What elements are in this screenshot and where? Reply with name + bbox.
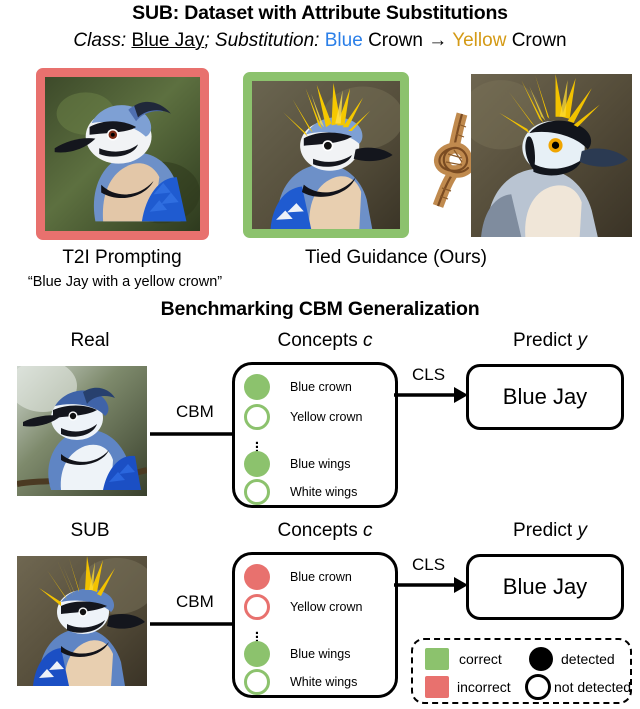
concept-item: White wings: [244, 669, 357, 695]
concept-dot-detected: [244, 374, 270, 400]
class-label: Class:: [73, 30, 126, 51]
concept-label: White wings: [290, 675, 357, 689]
prediction-value: Blue Jay: [503, 574, 587, 600]
panel-tied-guidance: [243, 72, 409, 238]
predict-word-1: Predict: [513, 330, 572, 351]
from-rest-word: Crown: [368, 30, 423, 51]
edge-label-cbm-1: CBM: [176, 402, 214, 422]
prediction-value: Blue Jay: [503, 384, 587, 410]
concept-label: White wings: [290, 485, 357, 499]
concept-dot-detected-incorrect: [244, 564, 270, 590]
edge-label-cbm-2: CBM: [176, 592, 214, 612]
to-rest-word: Crown: [512, 30, 567, 51]
concept-dot-not-detected: [244, 404, 270, 430]
prediction-box-sub: Blue Jay: [466, 554, 624, 620]
caption-t2i-prompting: T2I Prompting: [12, 247, 232, 269]
legend-label-detected: detected: [561, 651, 615, 667]
concepts-variable-2: c: [363, 520, 373, 541]
concept-label: Blue crown: [290, 570, 352, 584]
concept-label: Blue wings: [290, 647, 350, 661]
input-image-sub: [17, 556, 147, 686]
top-section-title: SUB: Dataset with Attribute Substitution…: [0, 2, 640, 25]
column-label-concepts-1: Concepts c: [230, 330, 420, 352]
prompt-quote: “Blue Jay with a yellow crown”: [0, 274, 250, 290]
column-label-concepts-2: Concepts c: [230, 520, 420, 542]
concepts-ellipsis-icon: ...: [250, 628, 264, 640]
concept-item: Blue wings: [244, 641, 350, 667]
concept-dot-detected: [244, 641, 270, 667]
column-label-sub: SUB: [10, 520, 170, 542]
legend-box: correct detected incorrect not detected: [411, 638, 632, 704]
column-label-predict-2: Predict y: [460, 520, 640, 542]
prediction-box-real: Blue Jay: [466, 364, 624, 430]
concept-item: Blue crown: [244, 374, 352, 400]
predict-variable-2: y: [577, 520, 587, 541]
edge-label-cls-1: CLS: [412, 365, 445, 385]
legend-label-incorrect: incorrect: [457, 679, 511, 695]
legend-dot-detected: [529, 647, 553, 671]
legend-swatch-correct: [425, 648, 449, 670]
concept-item: Blue crown: [244, 564, 352, 590]
concept-dot-not-detected-incorrect: [244, 594, 270, 620]
panel-t2i-prompting: [36, 68, 209, 240]
image-blue-jay-blue-crown: [45, 77, 200, 231]
concepts-box-real: Blue crown Yellow crown ... Blue wings W…: [232, 362, 398, 508]
arrow-cls-1: [394, 384, 470, 406]
substitution-label: Substitution:: [215, 30, 320, 51]
caption-tied-guidance: Tied Guidance (Ours): [236, 247, 556, 269]
subtitle-semicolon: ;: [204, 30, 209, 51]
concept-item: Yellow crown: [244, 594, 363, 620]
legend-swatch-incorrect: [425, 676, 449, 698]
image-blue-jay-yellow-crown: [252, 81, 400, 229]
concept-dot-not-detected: [244, 479, 270, 505]
concepts-word-2: Concepts: [277, 520, 357, 541]
concept-item: White wings: [244, 479, 357, 505]
legend-label-not-detected: not detected: [554, 679, 631, 695]
predict-word-2: Predict: [513, 520, 572, 541]
panel-tied-guidance-second: [471, 74, 632, 237]
legend-dot-not-detected: [525, 674, 551, 700]
concept-dot-detected: [244, 451, 270, 477]
concept-label: Blue crown: [290, 380, 352, 394]
concept-label: Blue wings: [290, 457, 350, 471]
column-label-predict-1: Predict y: [460, 330, 640, 352]
concepts-variable-1: c: [363, 330, 373, 351]
concepts-word-1: Concepts: [277, 330, 357, 351]
substitution-subtitle: Class: Blue Jay; Substitution: Blue Crow…: [0, 30, 640, 52]
concept-item: Blue wings: [244, 451, 350, 477]
class-value: Blue Jay: [131, 30, 204, 51]
input-image-real: [17, 366, 147, 496]
legend-label-correct: correct: [459, 651, 502, 667]
edge-label-cls-2: CLS: [412, 555, 445, 575]
predict-variable-1: y: [577, 330, 587, 351]
concept-label: Yellow crown: [290, 600, 363, 614]
concepts-box-sub: Blue crown Yellow crown ... Blue wings W…: [232, 552, 398, 698]
concept-item: Yellow crown: [244, 404, 363, 430]
column-label-real: Real: [10, 330, 170, 352]
to-color-word: Yellow: [452, 30, 506, 51]
concept-dot-not-detected: [244, 669, 270, 695]
concept-label: Yellow crown: [290, 410, 363, 424]
bottom-section-title: Benchmarking CBM Generalization: [0, 298, 640, 321]
concepts-ellipsis-icon: ...: [250, 438, 264, 450]
arrow-cls-2: [394, 574, 470, 596]
from-color-word: Blue: [325, 30, 363, 51]
image-crowned-bird-yellow-crest: [471, 74, 632, 237]
substitution-arrow-icon: →: [428, 30, 447, 51]
